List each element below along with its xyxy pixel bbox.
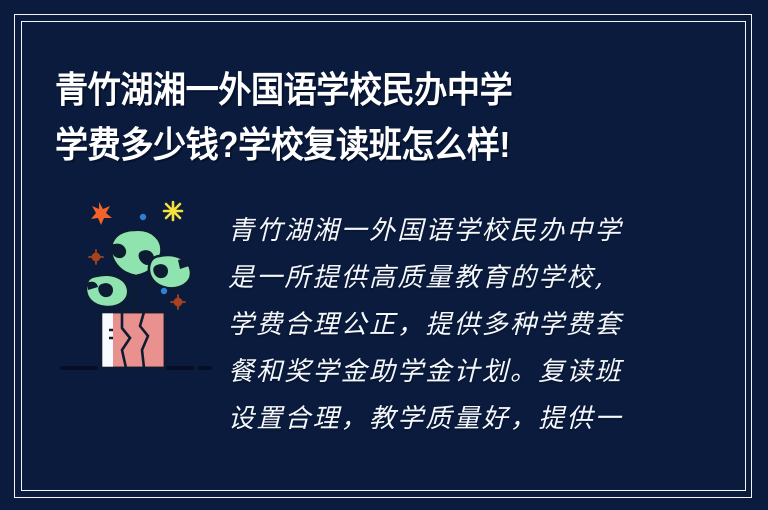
headline-line-2: 学费多少钱?学校复读班怎么样! [55,117,607,172]
body-line: 学费合理公正，提供多种学费套 [228,302,652,349]
headline: 青竹湖湘一外国语学校民办中学 学费多少钱?学校复读班怎么样! [55,62,655,172]
flower-pot [101,312,165,368]
headline-line-1: 青竹湖湘一外国语学校民办中学 [55,62,607,117]
leaf-left [86,275,128,307]
body-line: 餐和奖学金助学金计划。复读班 [228,349,652,396]
body-line: 青竹湖湘一外国语学校民办中学 [228,208,652,255]
body-copy: 青竹湖湘一外国语学校民办中学 是一所提供高质量教育的学校, 学费合理公正，提供多… [228,208,652,443]
leaf-right [149,255,191,288]
potted-plant-illustration [60,190,220,370]
body-line: 设置合理，教学质量好，提供一 [228,396,652,443]
article-card: 青竹湖湘一外国语学校民办中学 学费多少钱?学校复读班怎么样! [0,0,768,510]
body-line: 是一所提供高质量教育的学校, [228,255,652,302]
